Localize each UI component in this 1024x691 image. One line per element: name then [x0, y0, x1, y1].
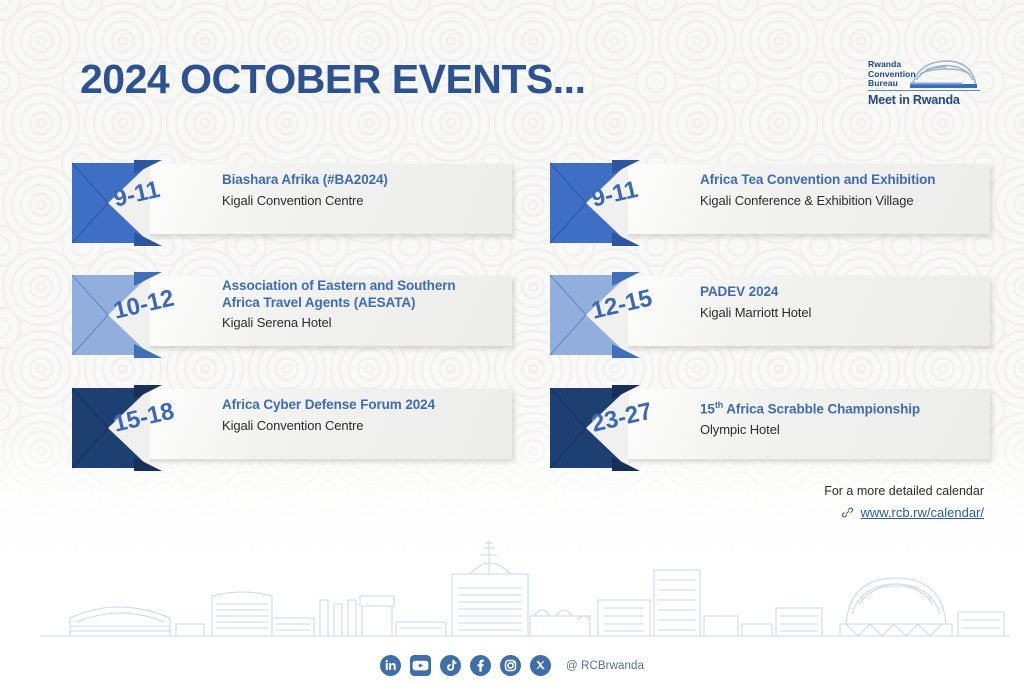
youtube-icon[interactable] [410, 655, 431, 676]
event-venue: Olympic Hotel [700, 422, 990, 438]
event-title: 15th Africa Scrabble Championship [700, 397, 990, 418]
event-title: Biashara Afrika (#BA2024) [222, 172, 512, 189]
event-details: Biashara Afrika (#BA2024) Kigali Convent… [222, 172, 512, 209]
social-bar: @ RCBrwanda [0, 655, 1024, 676]
event-title: PADEV 2024 [700, 284, 990, 301]
event-details: Africa Cyber Defense Forum 2024 Kigali C… [222, 397, 512, 434]
event-card[interactable]: 9-11 Biashara Afrika (#BA2024) Kigali Co… [72, 160, 512, 238]
calendar-note: For a more detailed calendar www.rcb.rw/… [824, 484, 984, 520]
event-details: 15th Africa Scrabble Championship Olympi… [700, 397, 990, 438]
page-title: 2024 OCTOBER EVENTS... [80, 56, 585, 103]
event-venue: Kigali Marriott Hotel [700, 305, 990, 321]
kigali-skyline-illustration [0, 500, 1024, 650]
facebook-icon[interactable] [470, 655, 491, 676]
instagram-icon[interactable] [500, 655, 521, 676]
social-handle: @ RCBrwanda [566, 660, 644, 672]
event-details: PADEV 2024 Kigali Marriott Hotel [700, 284, 990, 321]
event-title: Africa Cyber Defense Forum 2024 [222, 397, 512, 414]
linkedin-icon[interactable] [380, 655, 401, 676]
event-venue: Kigali Convention Centre [222, 193, 512, 209]
logo-divider [868, 90, 980, 91]
event-card[interactable]: 23-27 15th Africa Scrabble Championship … [550, 385, 990, 463]
x-twitter-icon[interactable] [530, 655, 551, 676]
calendar-link-row[interactable]: www.rcb.rw/calendar/ [824, 505, 984, 520]
rwanda-convention-bureau-logo: Rwanda Convention Bureau Meet in Rwanda [868, 58, 980, 110]
event-card[interactable]: 10-12 Association of Eastern and Souther… [72, 272, 512, 350]
event-venue: Kigali Convention Centre [222, 418, 512, 434]
event-details: Africa Tea Convention and Exhibition Kig… [700, 172, 990, 209]
event-details: Association of Eastern and Southern Afri… [222, 278, 512, 331]
event-title-ordinal: th [715, 400, 723, 410]
convention-dome-icon [906, 58, 978, 90]
link-chain-icon [841, 506, 854, 519]
event-title-rest: Africa Scrabble Championship [723, 402, 920, 417]
logo-tagline: Meet in Rwanda [868, 93, 960, 107]
calendar-note-label: For a more detailed calendar [824, 484, 984, 498]
event-title-line-2: Africa Travel Agents (AESATA) [222, 295, 512, 312]
event-venue: Kigali Conference & Exhibition Village [700, 193, 990, 209]
event-title-number: 15 [700, 402, 715, 417]
event-card[interactable]: 15-18 Africa Cyber Defense Forum 2024 Ki… [72, 385, 512, 463]
event-title: Africa Tea Convention and Exhibition [700, 172, 990, 189]
event-title: Association of Eastern and Southern Afri… [222, 278, 512, 311]
event-card[interactable]: 9-11 Africa Tea Convention and Exhibitio… [550, 160, 990, 238]
poster-canvas: 2024 OCTOBER EVENTS... Rwanda Convention… [0, 0, 1024, 691]
event-title-line-1: Association of Eastern and Southern [222, 278, 512, 295]
event-card[interactable]: 12-15 PADEV 2024 Kigali Marriott Hotel [550, 272, 990, 350]
event-venue: Kigali Serena Hotel [222, 315, 512, 331]
calendar-link[interactable]: www.rcb.rw/calendar/ [860, 505, 984, 520]
tiktok-icon[interactable] [440, 655, 461, 676]
